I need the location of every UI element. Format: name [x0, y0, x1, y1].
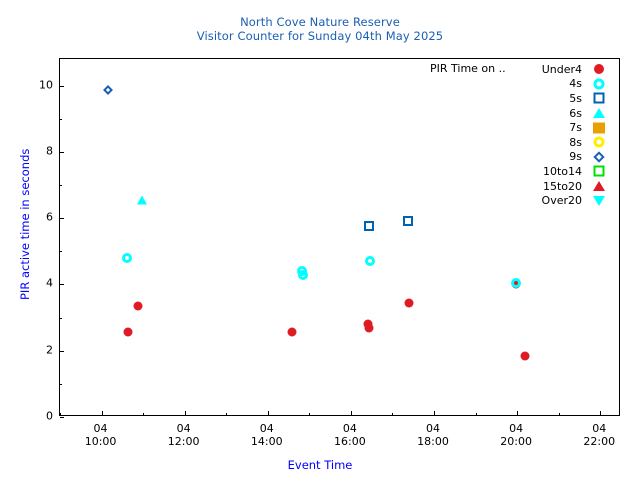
y-tick-mark: [60, 417, 64, 418]
x-tick-label: 0414:00: [251, 422, 283, 448]
x-axis-label: Event Time: [0, 458, 640, 472]
x-tick-label: 0420:00: [500, 422, 532, 448]
y-tick-mark-minor: [60, 318, 62, 319]
y-tick-mark: [60, 86, 64, 87]
y-tick-label: 0: [46, 410, 53, 423]
legend-item-4s[interactable]: 4s: [430, 77, 610, 92]
y-tick-label: 8: [46, 144, 53, 157]
x-tick-mark: [268, 411, 269, 415]
y-tick-mark: [60, 284, 64, 285]
x-tick-label: 0418:00: [417, 422, 449, 448]
legend-item-label: 9s: [569, 150, 588, 163]
legend-marker-triangle-up-icon: [588, 179, 610, 193]
data-point: [511, 278, 521, 288]
x-tick-label: 0412:00: [168, 422, 200, 448]
legend-item-7s[interactable]: 7s: [430, 120, 610, 135]
chart-legend: PIR Time on .. Under44s5s6s7s8s9s10to141…: [430, 62, 610, 208]
x-tick-mark-minor: [309, 413, 310, 415]
legend-marker-circle-open-icon: [588, 77, 610, 91]
data-point: [123, 328, 132, 337]
y-tick-label: 10: [39, 78, 53, 91]
data-point: [297, 266, 307, 276]
data-point: [288, 328, 297, 337]
x-tick-mark: [434, 411, 435, 415]
x-tick-label: 0410:00: [85, 422, 117, 448]
legend-item-label: 4s: [569, 77, 588, 90]
legend-item-over20[interactable]: Over20: [430, 193, 610, 208]
data-point: [137, 195, 147, 204]
legend-marker-diamond-open-icon: [588, 150, 610, 164]
y-tick-label: 2: [46, 343, 53, 356]
x-tick-mark-minor: [559, 413, 560, 415]
legend-item-10to14[interactable]: 10to14: [430, 164, 610, 179]
legend-rows: Under44s5s6s7s8s9s10to1415to20Over20: [430, 62, 610, 208]
legend-item-9s[interactable]: 9s: [430, 150, 610, 165]
x-tick-mark-minor: [226, 413, 227, 415]
y-tick-mark: [60, 351, 64, 352]
legend-item-label: 5s: [569, 92, 588, 105]
y-tick-mark: [60, 152, 64, 153]
legend-item-15to20[interactable]: 15to20: [430, 179, 610, 194]
y-tick-mark: [60, 218, 64, 219]
x-tick-label: 0422:00: [583, 422, 615, 448]
legend-marker-circle-filled-icon: [588, 62, 610, 76]
x-tick-mark-minor: [392, 413, 393, 415]
data-point: [122, 253, 132, 263]
legend-item-label: 10to14: [543, 165, 588, 178]
legend-marker-triangle-down-icon: [588, 194, 610, 208]
chart-title-line1: North Cove Nature Reserve: [0, 15, 640, 29]
data-point: [133, 301, 142, 310]
legend-marker-square-open-icon: [588, 164, 610, 178]
y-tick-mark-minor: [60, 119, 62, 120]
legend-item-5s[interactable]: 5s: [430, 91, 610, 106]
chart-title-line2: Visitor Counter for Sunday 04th May 2025: [0, 29, 640, 43]
data-point: [364, 323, 373, 332]
data-point: [403, 216, 413, 226]
legend-item-8s[interactable]: 8s: [430, 135, 610, 150]
legend-item-label: 7s: [569, 121, 588, 134]
x-tick-mark: [185, 411, 186, 415]
x-tick-label: 0416:00: [334, 422, 366, 448]
x-tick-mark-minor: [60, 413, 61, 415]
data-point: [364, 221, 374, 231]
legend-item-label: 8s: [569, 136, 588, 149]
legend-item-6s[interactable]: 6s: [430, 106, 610, 121]
x-tick-mark-minor: [476, 413, 477, 415]
chart-title: North Cove Nature Reserve Visitor Counte…: [0, 15, 640, 43]
data-point: [104, 86, 114, 96]
x-tick-mark-minor: [143, 413, 144, 415]
data-point: [521, 351, 530, 360]
x-tick-mark: [517, 411, 518, 415]
y-tick-label: 6: [46, 211, 53, 224]
data-point: [511, 280, 520, 289]
legend-item-label: Under4: [542, 63, 588, 76]
legend-item-label: Over20: [542, 194, 588, 207]
legend-item-label: 6s: [569, 107, 588, 120]
y-axis-label: PIR active time in seconds: [18, 149, 32, 300]
x-tick-mark: [351, 411, 352, 415]
data-point: [365, 256, 375, 266]
legend-marker-triangle-up-icon: [588, 106, 610, 120]
x-tick-mark: [600, 411, 601, 415]
y-tick-mark-minor: [60, 185, 62, 186]
legend-marker-circle-open-icon: [588, 135, 610, 149]
legend-marker-square-open-icon: [588, 91, 610, 105]
chart-figure: North Cove Nature Reserve Visitor Counte…: [0, 0, 640, 480]
y-tick-mark-minor: [60, 384, 62, 385]
data-point: [405, 298, 414, 307]
data-point: [363, 320, 372, 329]
legend-item-label: 15to20: [543, 180, 588, 193]
x-tick-mark: [102, 411, 103, 415]
data-point: [298, 270, 308, 280]
legend-item-under4[interactable]: Under4: [430, 62, 610, 77]
y-tick-mark-minor: [60, 251, 62, 252]
y-tick-label: 4: [46, 277, 53, 290]
legend-marker-square-filled-icon: [588, 121, 610, 135]
